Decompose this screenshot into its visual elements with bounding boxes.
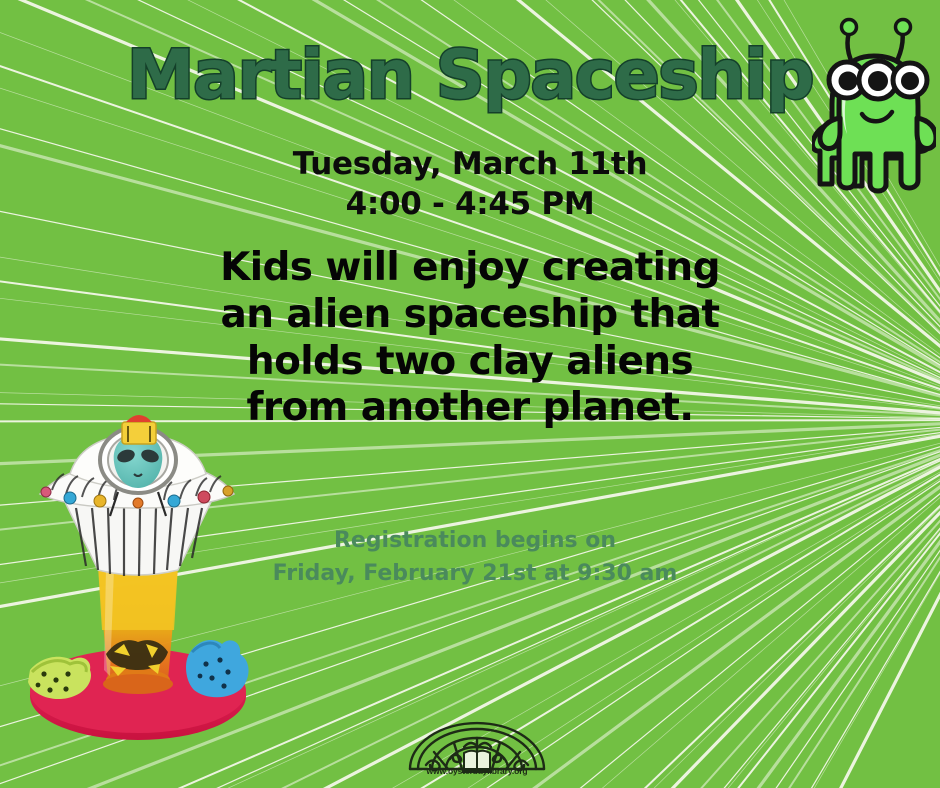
- event-datetime: Tuesday, March 11th 4:00 - 4:45 PM: [0, 145, 940, 224]
- blue-clay-alien: [186, 640, 249, 697]
- three-eyed-green-alien-icon: [812, 8, 936, 198]
- event-time: 4:00 - 4:45 PM: [0, 185, 940, 225]
- registration-line-2: Friday, February 21st at 9:30 am: [230, 557, 720, 590]
- description-line-2: an alien spaceship that: [150, 292, 790, 339]
- event-flyer: Martian Spaceship Tuesday, March 11th 4:…: [0, 0, 940, 788]
- alien-eyes: [829, 61, 927, 99]
- description-line-1: Kids will enjoy creating: [150, 245, 790, 292]
- event-description: Kids will enjoy creating an alien spaces…: [150, 245, 790, 432]
- logo-url-text: www.oysterbaylibrary.org: [404, 766, 550, 776]
- craft-topper: [122, 415, 156, 444]
- description-line-3: holds two clay aliens: [150, 339, 790, 386]
- registration-line-1: Registration begins on: [230, 524, 720, 557]
- clay-alien-spaceship-craft-image: [6, 408, 286, 788]
- event-date: Tuesday, March 11th: [0, 145, 940, 185]
- registration-info: Registration begins on Friday, February …: [230, 524, 720, 590]
